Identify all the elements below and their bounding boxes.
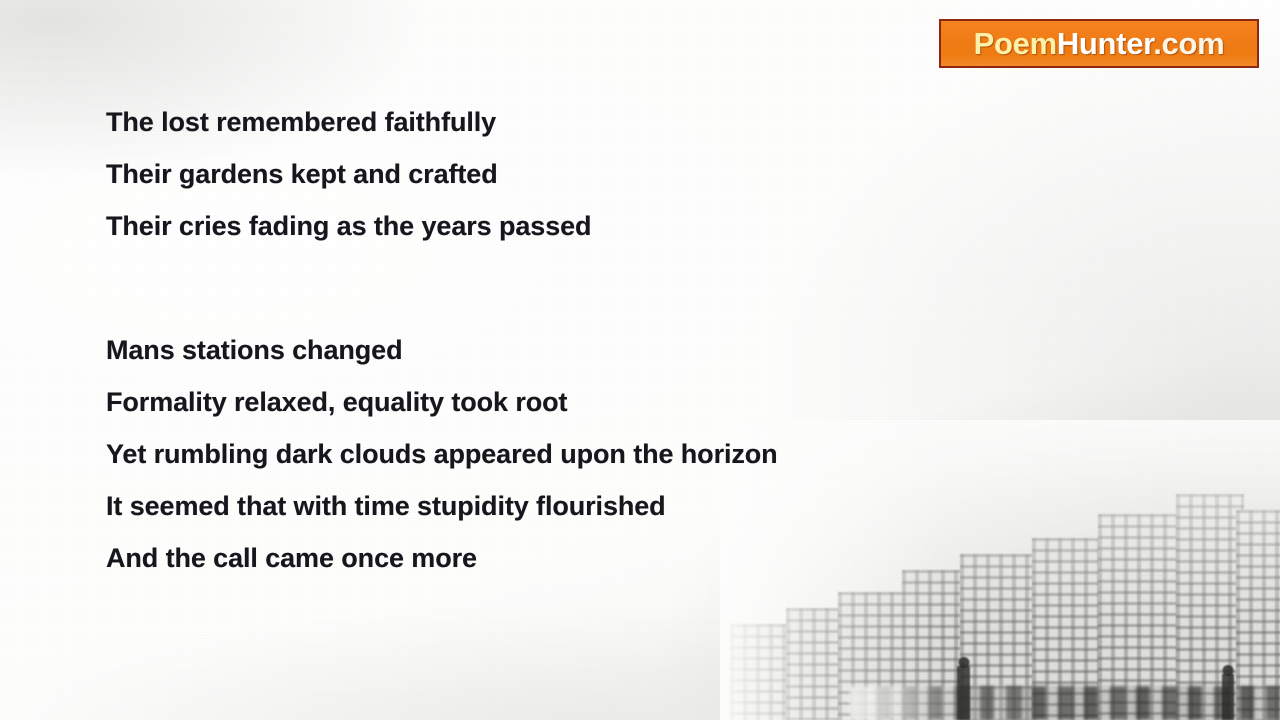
poemhunter-logo[interactable]: PoemHunter.com bbox=[939, 19, 1259, 68]
figure-head bbox=[958, 657, 969, 668]
poem-line: Yet rumbling dark clouds appeared upon t… bbox=[106, 428, 1106, 480]
logo-suffix: .com bbox=[1153, 26, 1224, 61]
poem-line: Mans stations changed bbox=[106, 324, 1106, 376]
poem-stanza: Mans stations changed Formality relaxed,… bbox=[106, 324, 1106, 584]
building-block bbox=[730, 624, 792, 720]
poem-line: It seemed that with time stupidity flour… bbox=[106, 480, 1106, 532]
pedestrian-silhouette bbox=[1222, 674, 1234, 720]
poem-line: Their gardens kept and crafted bbox=[106, 148, 1106, 200]
poem-line: Formality relaxed, equality took root bbox=[106, 376, 1106, 428]
poem-stanza: The lost remembered faithfully Their gar… bbox=[106, 96, 1106, 252]
poem-line: And the call came once more bbox=[106, 532, 1106, 584]
stanza-separator bbox=[106, 252, 1106, 324]
pedestrian-silhouette bbox=[957, 666, 970, 720]
poem-line: The lost remembered faithfully bbox=[106, 96, 1106, 148]
logo-middle: Hunter bbox=[1057, 26, 1153, 61]
figure-head bbox=[1223, 665, 1234, 676]
poem-card: The lost remembered faithfully Their gar… bbox=[0, 0, 1280, 720]
logo-prefix: Poem bbox=[974, 26, 1057, 61]
building-block bbox=[786, 608, 844, 720]
poem-body: The lost remembered faithfully Their gar… bbox=[106, 96, 1106, 584]
logo-wordmark: PoemHunter.com bbox=[974, 28, 1225, 59]
poem-line: Their cries fading as the years passed bbox=[106, 200, 1106, 252]
tree-line bbox=[850, 686, 1280, 720]
